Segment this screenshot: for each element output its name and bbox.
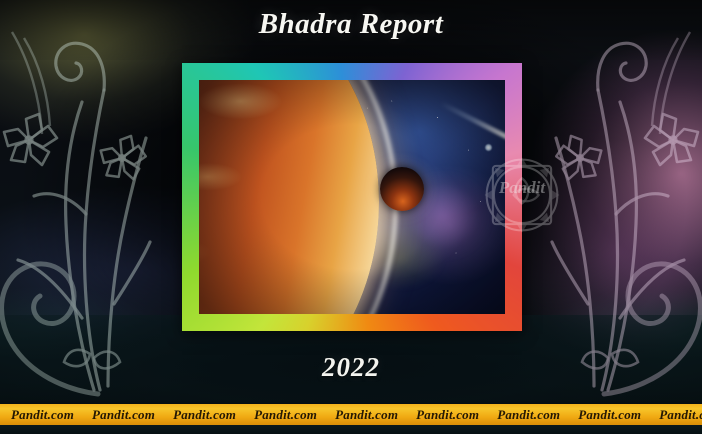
strip-bottom-edge xyxy=(0,425,702,434)
page-title: Bhadra Report xyxy=(0,8,702,41)
photo-vignette xyxy=(199,80,505,314)
watermark-strip: Pandit.comPandit.comPandit.comPandit.com… xyxy=(0,404,702,425)
watermark-strip-item: Pandit.com xyxy=(326,407,407,423)
rainbow-photo-frame xyxy=(182,63,522,331)
watermark-strip-item: Pandit.com xyxy=(83,407,164,423)
watermark-strip-item: Pandit.com xyxy=(2,407,83,423)
watermark-strip-item: Pandit.com xyxy=(569,407,650,423)
watermark-strip-item: Pandit.com xyxy=(650,407,702,423)
report-card: Bhadra Report xyxy=(0,0,702,434)
watermark-strip-item: Pandit.com xyxy=(488,407,569,423)
watermark-strip-item: Pandit.com xyxy=(245,407,326,423)
watermark-strip-item: Pandit.com xyxy=(407,407,488,423)
watermark-strip-track: Pandit.comPandit.comPandit.comPandit.com… xyxy=(0,407,702,423)
report-year: 2022 xyxy=(0,352,702,383)
space-scene-image xyxy=(199,80,505,314)
watermark-strip-item: Pandit.com xyxy=(164,407,245,423)
